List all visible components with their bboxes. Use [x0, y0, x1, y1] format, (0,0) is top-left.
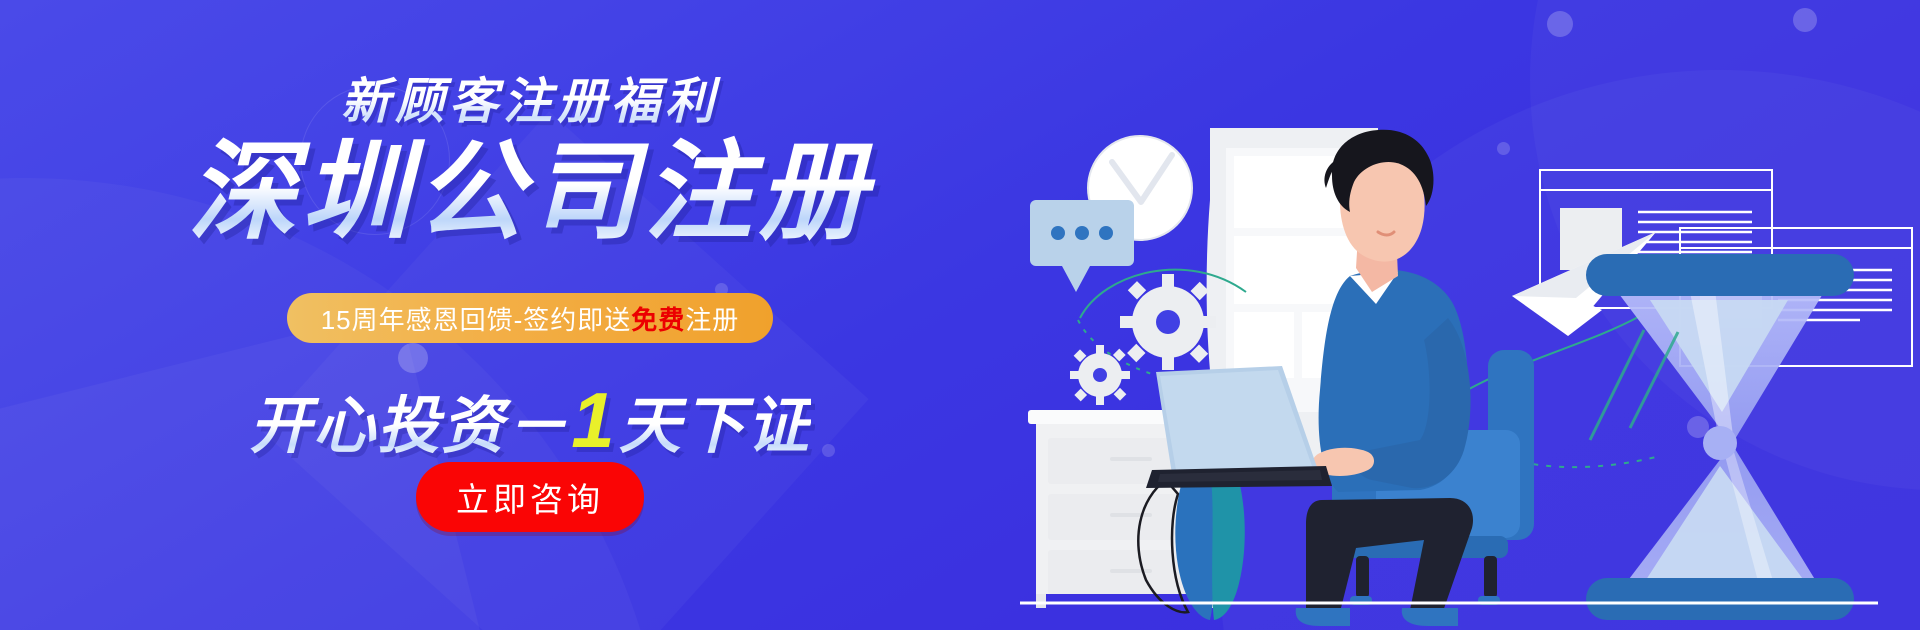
- banner-copy: 新顾客注册福利 深圳公司注册 15周年感恩回馈-签约即送免费注册 开心投资－1天…: [0, 0, 1060, 630]
- subline-part-2: 天下证: [619, 392, 811, 461]
- cta-row: 立即咨询: [0, 462, 1060, 532]
- consult-now-button[interactable]: 立即咨询: [416, 462, 644, 532]
- promo-banner: 新顾客注册福利 深圳公司注册 15周年感恩回馈-签约即送免费注册 开心投资－1天…: [0, 0, 1920, 630]
- promo-highlight: 免费: [631, 300, 685, 337]
- promo-pill-row: 15周年感恩回馈-签约即送免费注册: [0, 293, 1060, 343]
- hourglass-cap-top: [1586, 254, 1854, 296]
- hourglass-cap-bottom: [1586, 578, 1854, 620]
- promo-suffix: 注册: [685, 300, 739, 337]
- promo-prefix: 15周年感恩回馈-签约即送: [321, 300, 632, 337]
- promo-pill: 15周年感恩回馈-签约即送免费注册: [287, 293, 774, 343]
- banner-headline: 深圳公司注册: [0, 132, 1060, 253]
- banner-subline: 开心投资－1天下证: [0, 375, 1060, 466]
- banner-tagline: 新顾客注册福利: [0, 62, 1060, 133]
- subline-number: 1: [569, 376, 618, 464]
- office-illustration: [1020, 0, 1920, 630]
- subline-part-1: 开心投资－: [249, 392, 569, 461]
